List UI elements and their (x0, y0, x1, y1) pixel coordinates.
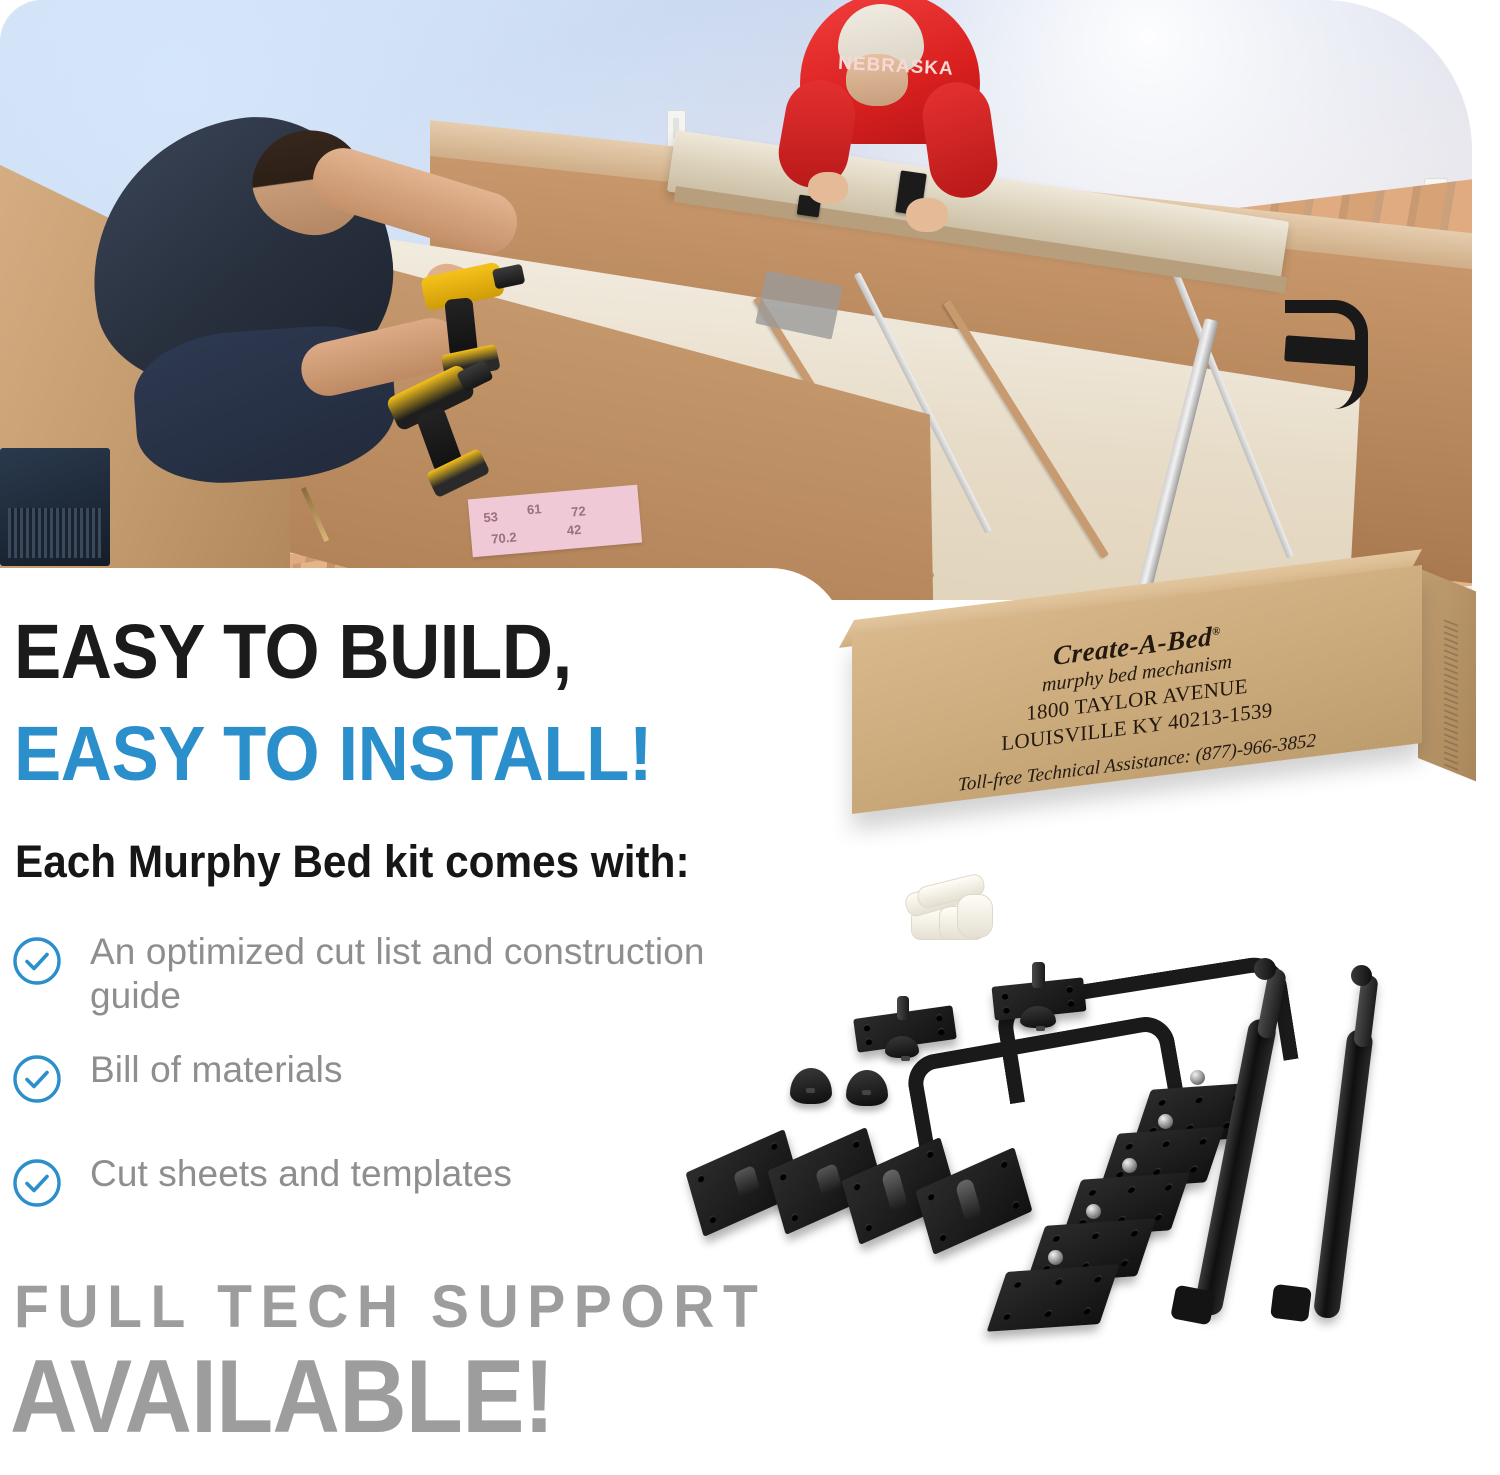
registered-mark: ® (1212, 625, 1221, 638)
list-item: An optimized cut list and construction g… (10, 930, 710, 1018)
bullet-label: An optimized cut list and construction g… (90, 930, 710, 1018)
footer-line-1: FULL TECH SUPPORT (14, 1277, 766, 1337)
bullet-label: Cut sheets and templates (90, 1152, 512, 1196)
list-item: Bill of materials (10, 1048, 710, 1106)
headline-line-1: EASY TO BUILD, (14, 614, 572, 690)
black-hook-foot (1284, 335, 1366, 367)
subheading: Each Murphy Bed kit comes with: (15, 837, 690, 887)
check-circle-icon (10, 934, 64, 988)
feature-bullet-list: An optimized cut list and construction g… (10, 930, 710, 1228)
installation-photo: 5361 7270.2 42 NEBRASKA (0, 0, 1472, 600)
product-box: Create-A-Bed® murphy bed mechanism 1800 … (852, 612, 1492, 912)
check-circle-icon (10, 1052, 64, 1106)
radiator-vent (0, 448, 110, 566)
person-red-hoodie-left-hand (808, 172, 848, 204)
box-barcode (1444, 619, 1458, 775)
bullet-label: Bill of materials (90, 1048, 343, 1092)
headline-line-2: EASY TO INSTALL! (14, 716, 652, 792)
footer-line-2: AVAILABLE! (10, 1345, 554, 1449)
box-label-text: Create-A-Bed® murphy bed mechanism 1800 … (852, 567, 1422, 814)
list-item: Cut sheets and templates (10, 1152, 710, 1210)
person-red-hoodie-right-hand (906, 198, 948, 232)
check-circle-icon (10, 1156, 64, 1210)
marketing-image-stage: 5361 7270.2 42 NEBRASKA Create-A-Bed® mu… (0, 0, 1500, 1475)
